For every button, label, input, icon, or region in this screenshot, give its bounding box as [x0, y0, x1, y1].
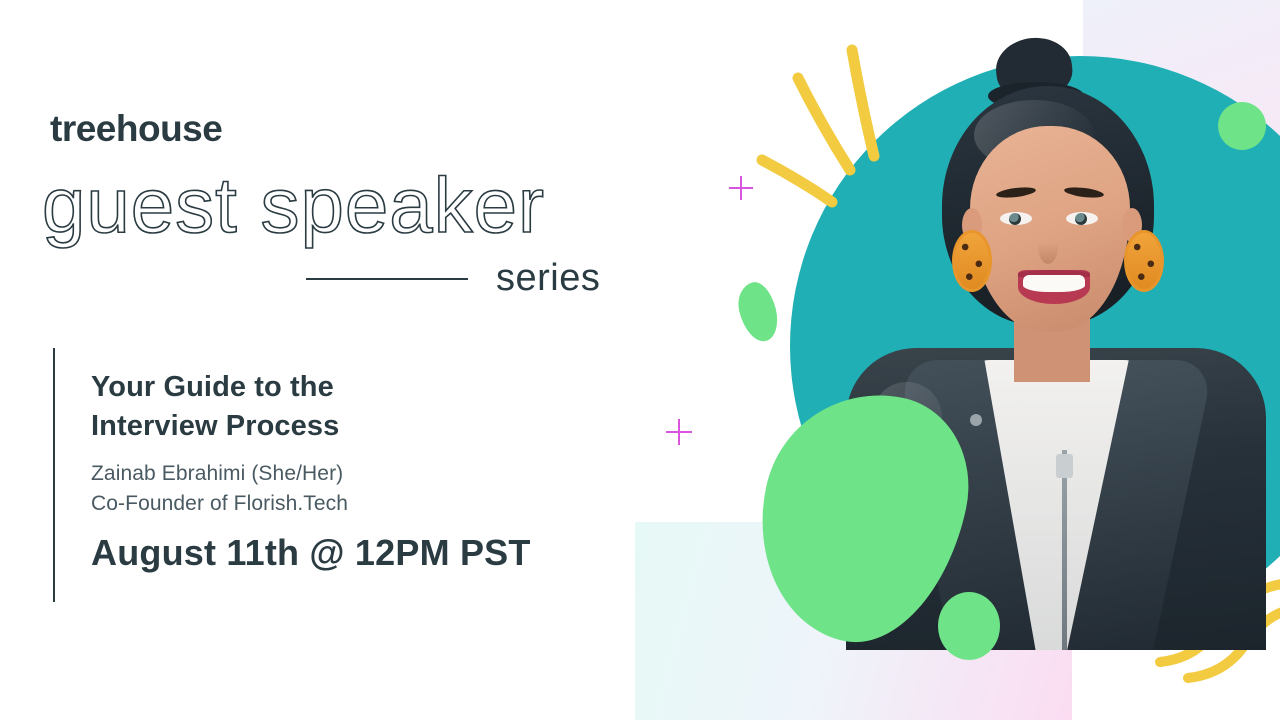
- event-datetime: August 11th @ 12PM PST: [91, 533, 631, 573]
- portrait-earring-left: [952, 230, 992, 292]
- series-label: series: [496, 256, 600, 302]
- talk-title-line-1: Your Guide to the: [91, 371, 334, 403]
- speaker-portrait: [812, 30, 1280, 650]
- green-blob-small: [733, 279, 782, 346]
- plus-bar-vertical: [678, 419, 680, 445]
- portrait-eye-left: [1000, 212, 1032, 225]
- plus-bar-horizontal: [666, 431, 692, 433]
- portrait-jacket-stud: [970, 414, 982, 426]
- portrait-earring-right: [1124, 230, 1164, 292]
- series-row: series: [306, 256, 626, 302]
- portrait-jacket-zipper: [1062, 450, 1067, 650]
- talk-title-line-2: Interview Process: [91, 410, 339, 442]
- event-detail-block: Your Guide to the Interview Process Zain…: [91, 368, 631, 573]
- portrait-jacket-zipper-pull: [1056, 454, 1073, 478]
- plus-mark-upper-icon: [729, 176, 753, 200]
- portrait-nose: [1038, 228, 1058, 264]
- brand-wordmark: treehouse: [50, 110, 222, 147]
- headline-outline: guest speaker: [42, 166, 545, 244]
- portrait-iris-right: [1075, 213, 1087, 225]
- talk-title: Your Guide to the Interview Process: [91, 368, 631, 446]
- portrait-jacket-shine: [872, 382, 942, 562]
- portrait-teeth: [1023, 275, 1085, 292]
- series-rule: [306, 278, 468, 280]
- speaker-name: Zainab Ebrahimi (She/Her): [91, 459, 631, 489]
- portrait-eye-right: [1066, 212, 1098, 225]
- plus-bar-vertical: [740, 176, 742, 200]
- speaker-role: Co-Founder of Florish.Tech: [91, 489, 631, 519]
- detail-divider: [53, 348, 55, 602]
- portrait-smile: [1018, 270, 1090, 304]
- text-column: treehouse guest speaker series Your Guid…: [0, 0, 660, 720]
- portrait-iris-left: [1009, 213, 1021, 225]
- plus-bar-horizontal: [729, 187, 753, 189]
- promo-canvas: treehouse guest speaker series Your Guid…: [0, 0, 1280, 720]
- plus-mark-lower-icon: [666, 419, 692, 445]
